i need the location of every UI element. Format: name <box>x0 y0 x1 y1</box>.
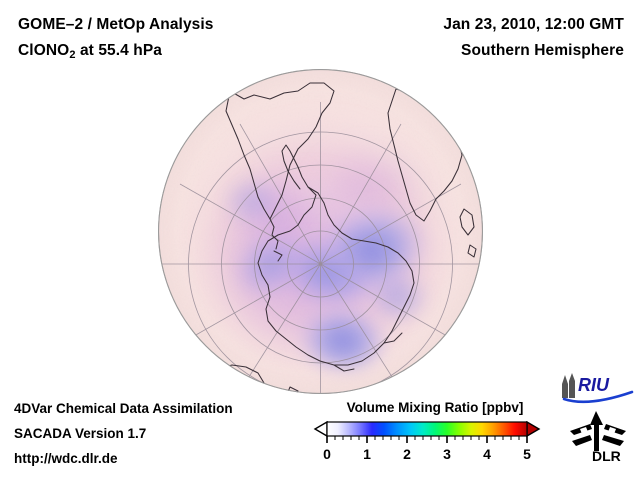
riu-tower-icon <box>562 373 575 398</box>
pressure-level: at 55.4 hPa <box>76 42 163 59</box>
dlr-logo: DLR <box>566 409 632 463</box>
cb-tick-0: 0 <box>323 446 331 462</box>
colorbar-tick-labels: 0 1 2 3 4 5 <box>313 446 541 468</box>
polar-map <box>158 69 483 394</box>
version-label: SACADA Version 1.7 <box>14 426 146 441</box>
species-name: ClONO <box>18 42 69 59</box>
colorbar-title: Volume Mixing Ratio [ppbv] <box>330 400 540 415</box>
colorbar-right-cap <box>527 422 539 436</box>
colorbar-left-cap <box>315 422 327 436</box>
riu-wordmark: RIU <box>578 375 610 395</box>
cb-tick-4: 4 <box>483 446 491 462</box>
cb-tick-5: 5 <box>523 446 531 462</box>
south-pole-marker <box>319 262 322 265</box>
instrument-title: GOME–2 / MetOp Analysis <box>18 16 214 34</box>
datetime-label: Jan 23, 2010, 12:00 GMT <box>443 16 624 34</box>
dlr-wordmark: DLR <box>592 448 621 463</box>
colorbar-ramp <box>327 422 527 436</box>
website-link[interactable]: http://wdc.dlr.de <box>14 451 118 466</box>
riu-logo: RIU <box>560 372 634 404</box>
globe-disc <box>158 69 483 394</box>
cb-tick-1: 1 <box>363 446 371 462</box>
figure-canvas: GOME–2 / MetOp Analysis ClONO2 at 55.4 h… <box>0 0 640 480</box>
map-field <box>158 69 483 394</box>
dlr-mark-icon <box>570 411 626 451</box>
hemisphere-label: Southern Hemisphere <box>461 42 624 60</box>
cb-tick-2: 2 <box>403 446 411 462</box>
cb-tick-3: 3 <box>443 446 451 462</box>
species-level-title: ClONO2 at 55.4 hPa <box>18 42 162 61</box>
method-label: 4DVar Chemical Data Assimilation <box>14 401 233 416</box>
colorbar[interactable] <box>313 421 541 445</box>
